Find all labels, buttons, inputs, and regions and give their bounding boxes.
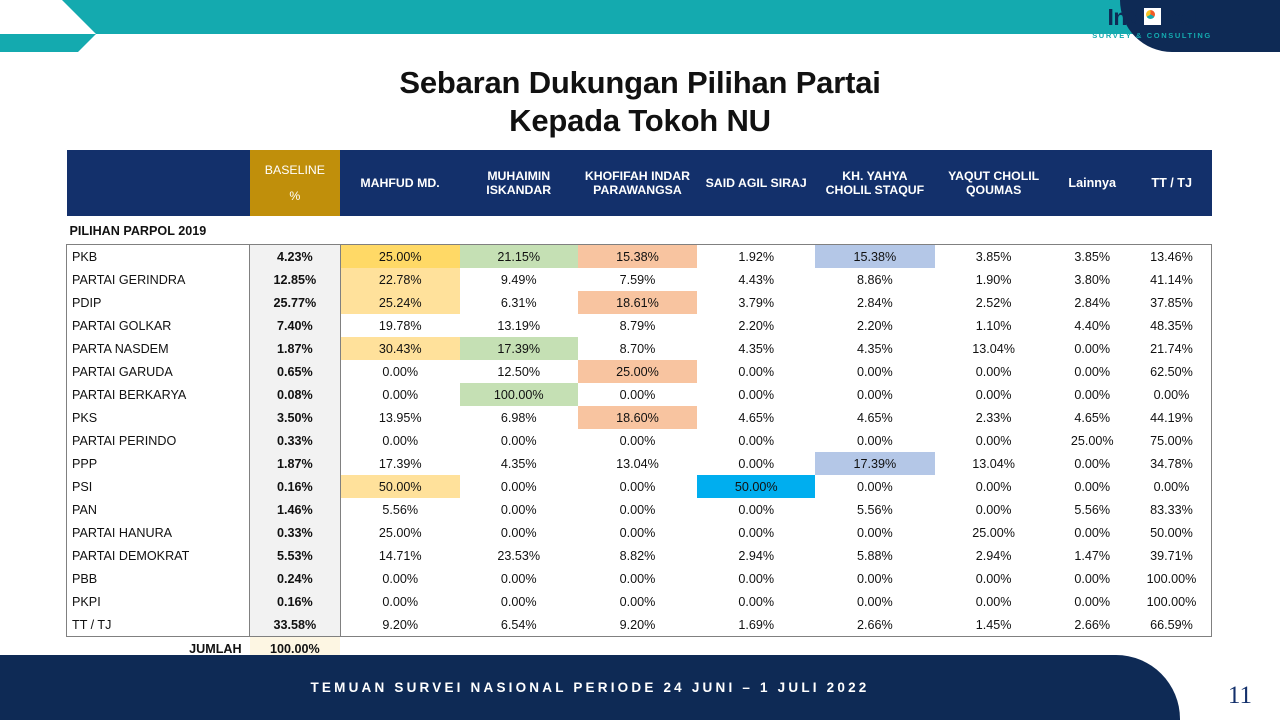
page-title: Sebaran Dukungan Pilihan Partai Kepada T… [0, 64, 1280, 140]
row-cell-value: 0.00% [935, 360, 1053, 383]
row-cell-value: 5.56% [815, 498, 935, 521]
row-cell-value: 0.00% [935, 498, 1053, 521]
row-party-name: PPP [67, 452, 250, 475]
row-cell-value: 21.15% [460, 245, 578, 269]
header-khofifah-indar-parawangsa: KHOFIFAH INDAR PARAWANGSA [578, 150, 698, 216]
row-cell-value: 19.78% [340, 314, 460, 337]
row-cell-value: 4.65% [1052, 406, 1131, 429]
logo-text-right: pol [1164, 4, 1197, 30]
row-cell-value: 22.78% [340, 268, 460, 291]
row-cell-value: 6.31% [460, 291, 578, 314]
row-cell-value: 37.85% [1132, 291, 1212, 314]
row-cell-value: 25.00% [935, 521, 1053, 544]
row-cell-value: 0.00% [935, 429, 1053, 452]
row-cell-value: 2.94% [697, 544, 815, 567]
row-cell-value: 25.00% [578, 360, 698, 383]
row-cell-value: 4.40% [1052, 314, 1131, 337]
row-cell-value: 7.59% [578, 268, 698, 291]
row-cell-value: 0.00% [935, 383, 1053, 406]
table-row: PARTAI GOLKAR7.40%19.78%13.19%8.79%2.20%… [67, 314, 1212, 337]
row-cell-value: 50.00% [340, 475, 460, 498]
table-row: PPP1.87%17.39%4.35%13.04%0.00%17.39%13.0… [67, 452, 1212, 475]
row-cell-value: 18.61% [578, 291, 698, 314]
logo-tagline: SURVEY & CONSULTING [1086, 31, 1218, 40]
row-cell-value: 13.46% [1132, 245, 1212, 269]
row-cell-value: 0.00% [1132, 383, 1212, 406]
row-cell-value: 9.20% [340, 613, 460, 637]
row-cell-value: 1.45% [935, 613, 1053, 637]
row-baseline-value: 1.46% [250, 498, 341, 521]
row-baseline-value: 0.24% [250, 567, 341, 590]
row-cell-value: 12.50% [460, 360, 578, 383]
row-cell-value: 0.00% [460, 475, 578, 498]
row-cell-value: 6.98% [460, 406, 578, 429]
table-row: PBB0.24%0.00%0.00%0.00%0.00%0.00%0.00%0.… [67, 567, 1212, 590]
header-kh-yahya-cholil-staquf: KH. YAHYA CHOLIL STAQUF [815, 150, 935, 216]
row-cell-value: 17.39% [340, 452, 460, 475]
row-cell-value: 0.00% [1052, 452, 1131, 475]
row-cell-value: 2.66% [815, 613, 935, 637]
row-cell-value: 0.00% [697, 567, 815, 590]
row-cell-value: 0.00% [697, 429, 815, 452]
table-row: PSI0.16%50.00%0.00%0.00%50.00%0.00%0.00%… [67, 475, 1212, 498]
row-cell-value: 5.56% [1052, 498, 1131, 521]
row-cell-value: 0.00% [578, 590, 698, 613]
row-cell-value: 0.00% [815, 567, 935, 590]
table-row: PAN1.46%5.56%0.00%0.00%0.00%5.56%0.00%5.… [67, 498, 1212, 521]
row-cell-value: 0.00% [578, 475, 698, 498]
row-cell-value: 0.00% [1052, 567, 1131, 590]
row-cell-value: 0.00% [697, 452, 815, 475]
header-muhaimin-iskandar: MUHAIMIN ISKANDAR [460, 150, 578, 216]
row-cell-value: 0.00% [1052, 475, 1131, 498]
footer-caption: TEMUAN SURVEI NASIONAL PERIODE 24 JUNI –… [0, 655, 1180, 720]
title-line-1: Sebaran Dukungan Pilihan Partai [0, 64, 1280, 102]
row-baseline-value: 25.77% [250, 291, 341, 314]
row-cell-value: 75.00% [1132, 429, 1212, 452]
row-cell-value: 3.80% [1052, 268, 1131, 291]
row-cell-value: 100.00% [1132, 590, 1212, 613]
row-cell-value: 0.00% [460, 590, 578, 613]
row-baseline-value: 4.23% [250, 245, 341, 269]
row-cell-value: 13.19% [460, 314, 578, 337]
indopol-logo: Indpol SURVEY & CONSULTING [1086, 4, 1218, 48]
teal-accent-shape [0, 34, 78, 52]
row-cell-value: 2.84% [1052, 291, 1131, 314]
row-cell-value: 9.20% [578, 613, 698, 637]
header-baseline-label: BASELINE [253, 162, 338, 178]
page-number: 11 [1228, 682, 1252, 710]
row-cell-value: 6.54% [460, 613, 578, 637]
row-cell-value: 21.74% [1132, 337, 1212, 360]
table-row: PKB4.23%25.00%21.15%15.38%1.92%15.38%3.8… [67, 245, 1212, 269]
row-cell-value: 44.19% [1132, 406, 1212, 429]
row-cell-value: 41.14% [1132, 268, 1212, 291]
data-table-container: BASELINE % MAHFUD MD. MUHAIMIN ISKANDAR … [66, 150, 1212, 661]
row-cell-value: 0.00% [340, 383, 460, 406]
row-cell-value: 0.00% [697, 498, 815, 521]
row-cell-value: 9.49% [460, 268, 578, 291]
row-cell-value: 1.10% [935, 314, 1053, 337]
header-baseline: BASELINE % [250, 150, 341, 216]
row-party-name: PSI [67, 475, 250, 498]
row-cell-value: 0.00% [340, 429, 460, 452]
row-cell-value: 25.24% [340, 291, 460, 314]
table-header: BASELINE % MAHFUD MD. MUHAIMIN ISKANDAR … [67, 150, 1212, 216]
row-cell-value: 66.59% [1132, 613, 1212, 637]
row-cell-value: 13.04% [578, 452, 698, 475]
row-cell-value: 0.00% [697, 360, 815, 383]
row-cell-value: 15.38% [578, 245, 698, 269]
table-row: PARTAI BERKARYA0.08%0.00%100.00%0.00%0.0… [67, 383, 1212, 406]
table-row: PARTAI GERINDRA12.85%22.78%9.49%7.59%4.4… [67, 268, 1212, 291]
row-cell-value: 0.00% [578, 567, 698, 590]
row-cell-value: 0.00% [460, 521, 578, 544]
row-cell-value: 48.35% [1132, 314, 1212, 337]
title-line-2: Kepada Tokoh NU [0, 102, 1280, 140]
table-row: PARTAI GARUDA0.65%0.00%12.50%25.00%0.00%… [67, 360, 1212, 383]
row-cell-value: 0.00% [460, 498, 578, 521]
header-row: BASELINE % MAHFUD MD. MUHAIMIN ISKANDAR … [67, 150, 1212, 216]
row-cell-value: 0.00% [340, 567, 460, 590]
row-party-name: PARTAI BERKARYA [67, 383, 250, 406]
row-baseline-value: 3.50% [250, 406, 341, 429]
row-cell-value: 0.00% [697, 521, 815, 544]
row-cell-value: 8.70% [578, 337, 698, 360]
row-party-name: PKS [67, 406, 250, 429]
row-cell-value: 0.00% [460, 567, 578, 590]
row-cell-value: 0.00% [935, 567, 1053, 590]
row-cell-value: 4.43% [697, 268, 815, 291]
row-cell-value: 0.00% [697, 590, 815, 613]
logo-wordmark: Indpol [1086, 4, 1218, 30]
row-party-name: PAN [67, 498, 250, 521]
row-cell-value: 100.00% [1132, 567, 1212, 590]
row-cell-value: 4.65% [815, 406, 935, 429]
table-row: PARTAI PERINDO0.33%0.00%0.00%0.00%0.00%0… [67, 429, 1212, 452]
row-cell-value: 3.85% [1052, 245, 1131, 269]
row-cell-value: 2.33% [935, 406, 1053, 429]
row-cell-value: 0.00% [935, 475, 1053, 498]
row-party-name: PDIP [67, 291, 250, 314]
row-cell-value: 34.78% [1132, 452, 1212, 475]
section-label: PILIHAN PARPOL 2019 [67, 216, 1212, 245]
row-cell-value: 2.66% [1052, 613, 1131, 637]
row-cell-value: 8.82% [578, 544, 698, 567]
row-cell-value: 0.00% [1132, 475, 1212, 498]
footer: TEMUAN SURVEI NASIONAL PERIODE 24 JUNI –… [0, 655, 1280, 720]
row-cell-value: 0.00% [1052, 383, 1131, 406]
row-baseline-value: 0.33% [250, 521, 341, 544]
header-mahfud-md: MAHFUD MD. [340, 150, 460, 216]
header-tt-tj: TT / TJ [1132, 150, 1212, 216]
row-cell-value: 0.00% [815, 521, 935, 544]
table-row: PARTAI DEMOKRAT5.53%14.71%23.53%8.82%2.9… [67, 544, 1212, 567]
row-cell-value: 50.00% [1132, 521, 1212, 544]
row-party-name: PARTA NASDEM [67, 337, 250, 360]
row-cell-value: 8.79% [578, 314, 698, 337]
row-cell-value: 0.00% [578, 521, 698, 544]
row-cell-value: 25.00% [340, 521, 460, 544]
support-distribution-table: BASELINE % MAHFUD MD. MUHAIMIN ISKANDAR … [66, 150, 1212, 661]
row-cell-value: 13.04% [935, 337, 1053, 360]
indopol-circle-mark-icon [1142, 6, 1163, 27]
row-baseline-value: 5.53% [250, 544, 341, 567]
row-baseline-value: 12.85% [250, 268, 341, 291]
row-party-name: PARTAI HANURA [67, 521, 250, 544]
row-cell-value: 4.35% [460, 452, 578, 475]
row-cell-value: 2.84% [815, 291, 935, 314]
row-cell-value: 0.00% [578, 498, 698, 521]
row-cell-value: 2.20% [815, 314, 935, 337]
row-cell-value: 2.52% [935, 291, 1053, 314]
row-cell-value: 0.00% [1052, 337, 1131, 360]
header-party [67, 150, 250, 216]
row-cell-value: 0.00% [815, 383, 935, 406]
table-row: TT / TJ33.58%9.20%6.54%9.20%1.69%2.66%1.… [67, 613, 1212, 637]
row-cell-value: 5.88% [815, 544, 935, 567]
header-yaqut-cholil-qoumas: YAQUT CHOLIL QOUMAS [935, 150, 1053, 216]
row-cell-value: 0.00% [578, 383, 698, 406]
row-cell-value: 0.00% [815, 429, 935, 452]
row-cell-value: 100.00% [460, 383, 578, 406]
row-baseline-value: 0.33% [250, 429, 341, 452]
row-cell-value: 2.94% [935, 544, 1053, 567]
row-cell-value: 83.33% [1132, 498, 1212, 521]
header-lainnya: Lainnya [1052, 150, 1131, 216]
row-cell-value: 4.65% [697, 406, 815, 429]
row-cell-value: 62.50% [1132, 360, 1212, 383]
row-cell-value: 17.39% [460, 337, 578, 360]
row-cell-value: 23.53% [460, 544, 578, 567]
row-baseline-value: 33.58% [250, 613, 341, 637]
table-row: PDIP25.77%25.24%6.31%18.61%3.79%2.84%2.5… [67, 291, 1212, 314]
row-cell-value: 0.00% [815, 475, 935, 498]
table-body: PILIHAN PARPOL 2019 PKB4.23%25.00%21.15%… [67, 216, 1212, 661]
row-baseline-value: 1.87% [250, 452, 341, 475]
row-party-name: PKB [67, 245, 250, 269]
row-cell-value: 0.00% [460, 429, 578, 452]
row-cell-value: 1.47% [1052, 544, 1131, 567]
row-cell-value: 25.00% [1052, 429, 1131, 452]
section-header-row: PILIHAN PARPOL 2019 [67, 216, 1212, 245]
row-cell-value: 1.69% [697, 613, 815, 637]
table-row: PKPI0.16%0.00%0.00%0.00%0.00%0.00%0.00%0… [67, 590, 1212, 613]
row-cell-value: 30.43% [340, 337, 460, 360]
row-cell-value: 3.79% [697, 291, 815, 314]
row-cell-value: 14.71% [340, 544, 460, 567]
teal-banner-shape [96, 0, 1156, 34]
table-row: PARTAI HANURA0.33%25.00%0.00%0.00%0.00%0… [67, 521, 1212, 544]
row-cell-value: 39.71% [1132, 544, 1212, 567]
row-cell-value: 0.00% [340, 590, 460, 613]
row-cell-value: 50.00% [697, 475, 815, 498]
row-cell-value: 25.00% [340, 245, 460, 269]
table-row: PKS3.50%13.95%6.98%18.60%4.65%4.65%2.33%… [67, 406, 1212, 429]
row-cell-value: 0.00% [1052, 360, 1131, 383]
row-baseline-value: 0.16% [250, 590, 341, 613]
table-row: PARTA NASDEM1.87%30.43%17.39%8.70%4.35%4… [67, 337, 1212, 360]
row-cell-value: 4.35% [815, 337, 935, 360]
logo-text-left: Ind [1108, 4, 1141, 30]
row-cell-value: 5.56% [340, 498, 460, 521]
row-baseline-value: 7.40% [250, 314, 341, 337]
row-cell-value: 3.85% [935, 245, 1053, 269]
row-cell-value: 0.00% [935, 590, 1053, 613]
row-cell-value: 17.39% [815, 452, 935, 475]
row-cell-value: 1.90% [935, 268, 1053, 291]
row-party-name: PARTAI GARUDA [67, 360, 250, 383]
row-party-name: TT / TJ [67, 613, 250, 637]
row-cell-value: 0.00% [815, 590, 935, 613]
row-cell-value: 0.00% [1052, 521, 1131, 544]
row-party-name: PARTAI DEMOKRAT [67, 544, 250, 567]
row-cell-value: 0.00% [1052, 590, 1131, 613]
row-cell-value: 8.86% [815, 268, 935, 291]
header-said-agil-siraj: SAID AGIL SIRAJ [697, 150, 815, 216]
row-party-name: PBB [67, 567, 250, 590]
row-cell-value: 2.20% [697, 314, 815, 337]
row-cell-value: 0.00% [578, 429, 698, 452]
row-party-name: PARTAI GOLKAR [67, 314, 250, 337]
header-baseline-unit: % [253, 188, 338, 204]
row-party-name: PARTAI PERINDO [67, 429, 250, 452]
row-party-name: PKPI [67, 590, 250, 613]
row-cell-value: 13.95% [340, 406, 460, 429]
row-cell-value: 13.04% [935, 452, 1053, 475]
row-cell-value: 4.35% [697, 337, 815, 360]
row-cell-value: 0.00% [340, 360, 460, 383]
row-baseline-value: 0.08% [250, 383, 341, 406]
row-baseline-value: 0.16% [250, 475, 341, 498]
row-cell-value: 18.60% [578, 406, 698, 429]
row-cell-value: 0.00% [697, 383, 815, 406]
row-party-name: PARTAI GERINDRA [67, 268, 250, 291]
row-baseline-value: 1.87% [250, 337, 341, 360]
row-cell-value: 15.38% [815, 245, 935, 269]
row-cell-value: 1.92% [697, 245, 815, 269]
row-cell-value: 0.00% [815, 360, 935, 383]
row-baseline-value: 0.65% [250, 360, 341, 383]
